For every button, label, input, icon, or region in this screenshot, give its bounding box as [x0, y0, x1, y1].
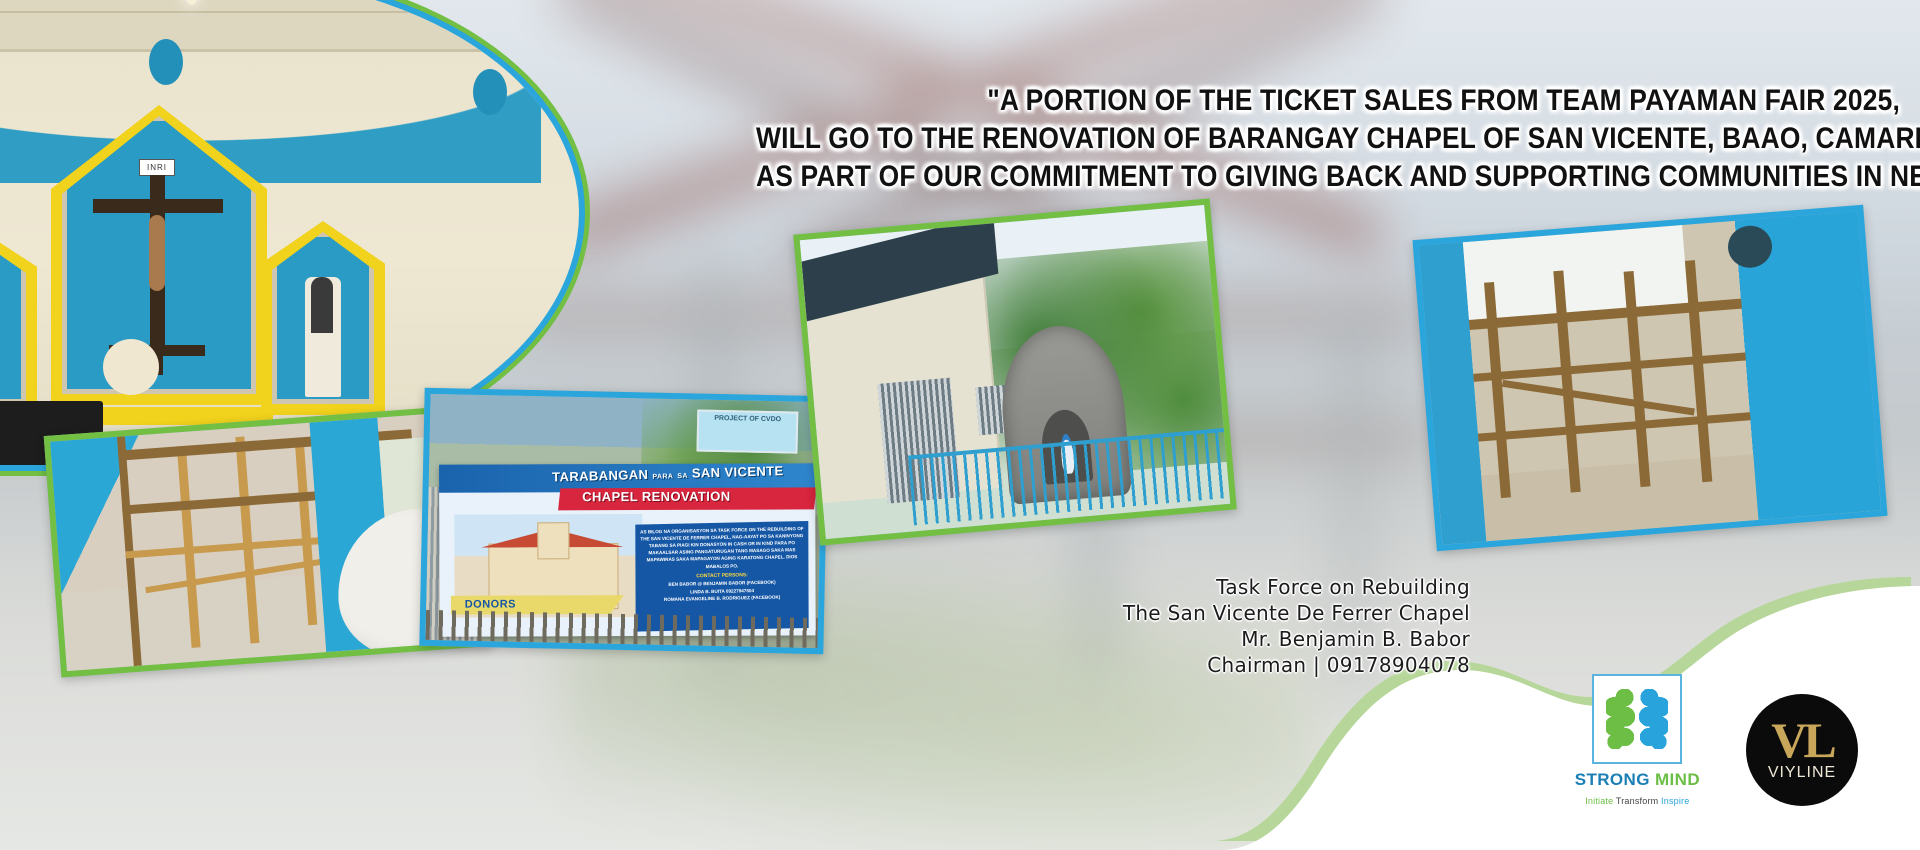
viyline-monogram: VL [1771, 718, 1832, 762]
brain-left-hemisphere [1606, 689, 1637, 749]
tarpaulin-title-main: TARABANGAN [552, 467, 649, 485]
strong-mind-word-2: MIND [1655, 770, 1700, 789]
drape-knot [149, 39, 183, 85]
tarpaulin-title-small-2: SA [677, 473, 688, 480]
tagline-word-1: Initiate [1585, 796, 1616, 806]
headline-line-1: "A PORTION OF THE TICKET SALES FROM TEAM… [756, 82, 1900, 120]
tarpaulin-title-small-1: PARA [652, 473, 673, 481]
corpus-figure [149, 215, 165, 291]
timber-beam [1473, 352, 1754, 382]
photo-grotto [793, 198, 1237, 545]
tarpaulin-body-text: AS BILOG NA ORGANISASYON SA TASK FORCE O… [640, 526, 803, 569]
ceiling-line [0, 11, 579, 13]
contact-line-4: Chairman | 09178904078 [1050, 652, 1470, 678]
crucifix-horizontal [93, 199, 223, 213]
project-sign: PROJECT OF CVDO [696, 409, 799, 453]
left-niche-inner [0, 236, 26, 404]
contact-line-2: The San Vicente De Ferrer Chapel [1050, 600, 1470, 626]
contact-block: Task Force on Rebuilding The San Vicente… [1050, 574, 1470, 678]
chapel-tower [537, 523, 569, 560]
timber-post [1685, 260, 1712, 482]
ceiling [0, 0, 579, 52]
tarpaulin-title-subject: SAN VICENTE [691, 463, 783, 481]
headline-line-2: WILL GO TO THE RENOVATION OF BARANGAY CH… [756, 120, 1900, 158]
viyline-wordmark: VIYLINE [1768, 764, 1836, 782]
photo-banner-image: PROJECT OF CVDO TARABANGAN PARA SA SAN V… [425, 394, 822, 648]
photo-banner: PROJECT OF CVDO TARABANGAN PARA SA SAN V… [419, 388, 828, 654]
saint-statue-right-robe [311, 277, 333, 333]
strong-mind-wordmark: STRONG MIND [1575, 770, 1700, 790]
timber-brace [1502, 380, 1695, 416]
tarpaulin-title-line-2: CHAPEL RENOVATION [582, 489, 815, 505]
inri-plaque: INRI [139, 159, 175, 176]
headline-line-3: AS PART OF OUR COMMITMENT TO GIVING BACK… [756, 158, 1900, 196]
promo-poster: INRI [0, 0, 1920, 850]
strong-mind-word-1: STRONG [1575, 770, 1655, 789]
brain-icon-box [1592, 674, 1682, 764]
brain-right-hemisphere [1637, 689, 1668, 749]
brain-icon [1606, 689, 1668, 749]
photo-construction-right [1412, 205, 1887, 552]
drape-knot [473, 69, 507, 115]
strong-mind-tagline: Initiate Transform Inspire [1585, 796, 1689, 806]
photo-grotto-image [800, 205, 1231, 539]
timber-beam [1478, 412, 1759, 442]
dedication-plaque [103, 339, 159, 395]
photo-construction-right-image [1419, 211, 1881, 545]
contact-line-1: Task Force on Rebuilding [1050, 574, 1470, 600]
tagline-word-2: Transform [1616, 796, 1661, 806]
brain-stem [1635, 695, 1638, 747]
strong-mind-logo: STRONG MIND Initiate Transform Inspire [1575, 674, 1700, 806]
viyline-logo: VL VIYLINE [1746, 694, 1858, 806]
logo-row: STRONG MIND Initiate Transform Inspire V… [1575, 674, 1858, 806]
contact-line-3: Mr. Benjamin B. Babor [1050, 626, 1470, 652]
donors-label: DONORS [464, 599, 515, 611]
headline: "A PORTION OF THE TICKET SALES FROM TEAM… [756, 82, 1900, 196]
tagline-word-3: Inspire [1661, 796, 1689, 806]
